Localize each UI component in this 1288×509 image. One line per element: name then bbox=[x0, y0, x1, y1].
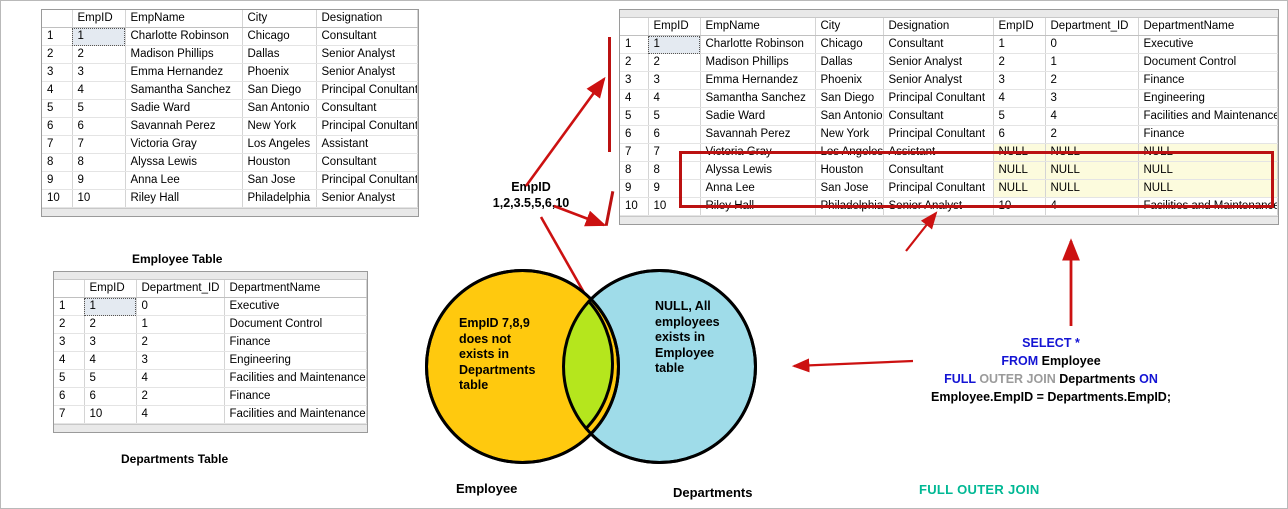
column-header-empid-left[interactable]: EmpID bbox=[648, 18, 700, 36]
table-row[interactable]: 2 2 Madison Phillips Dallas Senior Analy… bbox=[620, 54, 1278, 72]
cell-empid-right[interactable]: 2 bbox=[993, 54, 1045, 72]
row-number: 7 bbox=[620, 144, 648, 162]
column-header-department-name[interactable]: DepartmentName bbox=[224, 280, 367, 298]
sql-keyword-full: FULL bbox=[944, 372, 976, 386]
horizontal-scrollbar[interactable] bbox=[620, 216, 1278, 224]
cell-city[interactable]: Phoenix bbox=[242, 64, 316, 82]
cell-designation[interactable]: Consultant bbox=[316, 28, 418, 46]
cell-designation[interactable]: Consultant bbox=[883, 36, 993, 54]
column-header-empid[interactable]: EmpID bbox=[72, 10, 125, 28]
cell-empid[interactable]: 1 bbox=[84, 298, 136, 316]
cell-city[interactable]: Chicago bbox=[815, 36, 883, 54]
row-number: 3 bbox=[54, 334, 84, 352]
column-header[interactable] bbox=[620, 18, 648, 36]
cell-empname[interactable]: Alyssa Lewis bbox=[125, 154, 242, 172]
cell-empid[interactable]: 3 bbox=[72, 64, 125, 82]
cell-designation[interactable]: Principal Conultant bbox=[883, 180, 993, 198]
cell-city[interactable]: Houston bbox=[815, 162, 883, 180]
empid-annotation-line2: 1,2,3.5,5,6,10 bbox=[441, 195, 621, 211]
cell-city[interactable]: Dallas bbox=[815, 54, 883, 72]
row-number: 6 bbox=[54, 388, 84, 406]
cell-department-id-null[interactable]: NULL bbox=[1045, 180, 1138, 198]
table-row[interactable]: 3 3 Emma Hernandez Phoenix Senior Analys… bbox=[42, 64, 418, 82]
cell-empname[interactable]: Emma Hernandez bbox=[700, 72, 815, 90]
cell-designation[interactable]: Consultant bbox=[883, 108, 993, 126]
cell-designation[interactable]: Senior Analyst bbox=[316, 190, 418, 208]
departments-table: EmpID Department_ID DepartmentName 1 1 0… bbox=[54, 280, 367, 424]
cell-designation[interactable]: Senior Analyst bbox=[316, 64, 418, 82]
horizontal-scrollbar[interactable] bbox=[54, 424, 367, 432]
venn-label-right-line: table bbox=[655, 361, 760, 377]
cell-empid-left[interactable]: 9 bbox=[648, 180, 700, 198]
cell-department-name[interactable]: Finance bbox=[224, 388, 367, 406]
cell-designation[interactable]: Consultant bbox=[316, 154, 418, 172]
cell-empid-left[interactable]: 4 bbox=[648, 90, 700, 108]
cell-designation[interactable]: Consultant bbox=[316, 100, 418, 118]
grid-top-pad bbox=[54, 272, 367, 280]
table-header-row: EmpID EmpName City Designation EmpID Dep… bbox=[620, 18, 1278, 36]
cell-designation[interactable]: Principal Conultant bbox=[883, 90, 993, 108]
row-number: 10 bbox=[42, 190, 72, 208]
cell-department-id[interactable]: 3 bbox=[136, 352, 224, 370]
row-number: 6 bbox=[620, 126, 648, 144]
cell-empid[interactable]: 8 bbox=[72, 154, 125, 172]
cell-department-name[interactable]: Facilities and Maintenance bbox=[1138, 198, 1278, 216]
employee-table-caption: Employee Table bbox=[132, 252, 222, 266]
cell-empname[interactable]: Anna Lee bbox=[125, 172, 242, 190]
cell-empid[interactable]: 5 bbox=[72, 100, 125, 118]
cell-empid[interactable]: 2 bbox=[84, 316, 136, 334]
cell-department-name[interactable]: Document Control bbox=[224, 316, 367, 334]
row-number: 10 bbox=[620, 198, 648, 216]
cell-empid-right-null[interactable]: NULL bbox=[993, 180, 1045, 198]
column-header[interactable] bbox=[42, 10, 72, 28]
empid-annotation-line1: EmpID bbox=[441, 179, 621, 195]
bracket-bar-upper bbox=[608, 37, 611, 152]
cell-designation[interactable]: Principal Conultant bbox=[316, 172, 418, 190]
cell-empname[interactable]: Anna Lee bbox=[700, 180, 815, 198]
cell-empid[interactable]: 5 bbox=[84, 370, 136, 388]
cell-empname[interactable]: Sadie Ward bbox=[125, 100, 242, 118]
table-row-null[interactable]: 8 8 Alyssa Lewis Houston Consultant NULL… bbox=[620, 162, 1278, 180]
cell-department-name[interactable]: Engineering bbox=[1138, 90, 1278, 108]
table-row[interactable]: 6 6 Savannah Perez New York Principal Co… bbox=[620, 126, 1278, 144]
venn-title-departments: Departments bbox=[673, 485, 752, 500]
table-row[interactable]: 4 4 3 Engineering bbox=[54, 352, 367, 370]
cell-department-id[interactable]: 2 bbox=[1045, 126, 1138, 144]
column-header-department-id[interactable]: Department_ID bbox=[136, 280, 224, 298]
table-row[interactable]: 4 4 Samantha Sanchez San Diego Principal… bbox=[42, 82, 418, 100]
cell-department-id-null[interactable]: NULL bbox=[1045, 144, 1138, 162]
cell-empid-right[interactable]: 3 bbox=[993, 72, 1045, 90]
cell-empid-right[interactable]: 4 bbox=[993, 90, 1045, 108]
row-number: 4 bbox=[54, 352, 84, 370]
cell-empid[interactable]: 6 bbox=[84, 388, 136, 406]
sql-join-condition: Employee.EmpID = Departments.EmpID; bbox=[931, 390, 1171, 404]
sql-line-2: FROM Employee bbox=[856, 352, 1246, 370]
cell-department-name[interactable]: Executive bbox=[224, 298, 367, 316]
cell-city[interactable]: Dallas bbox=[242, 46, 316, 64]
cell-empname[interactable]: Savannah Perez bbox=[125, 118, 242, 136]
column-header-empname[interactable]: EmpName bbox=[700, 18, 815, 36]
column-header-empid[interactable]: EmpID bbox=[84, 280, 136, 298]
cell-department-id[interactable]: 4 bbox=[136, 370, 224, 388]
cell-empid[interactable]: 10 bbox=[84, 406, 136, 424]
table-row[interactable]: 10 10 Riley Hall Philadelphia Senior Ana… bbox=[42, 190, 418, 208]
table-row-null[interactable]: 7 7 Victoria Gray Los Angeles Assistant … bbox=[620, 144, 1278, 162]
table-row[interactable]: 10 10 Riley Hall Philadelphia Senior Ana… bbox=[620, 198, 1278, 216]
table-header-row: EmpID Department_ID DepartmentName bbox=[54, 280, 367, 298]
cell-department-name[interactable]: Engineering bbox=[224, 352, 367, 370]
grid-top-pad bbox=[620, 10, 1278, 18]
cell-empid[interactable]: 6 bbox=[72, 118, 125, 136]
cell-department-name[interactable]: Finance bbox=[1138, 72, 1278, 90]
column-header-empid-right[interactable]: EmpID bbox=[993, 18, 1045, 36]
cell-empname[interactable]: Victoria Gray bbox=[125, 136, 242, 154]
cell-empname[interactable]: Madison Phillips bbox=[700, 54, 815, 72]
cell-department-name[interactable]: Executive bbox=[1138, 36, 1278, 54]
column-header-city[interactable]: City bbox=[815, 18, 883, 36]
cell-empid[interactable]: 2 bbox=[72, 46, 125, 64]
table-row[interactable]: 2 2 Madison Phillips Dallas Senior Analy… bbox=[42, 46, 418, 64]
row-number: 1 bbox=[620, 36, 648, 54]
cell-city[interactable]: San Jose bbox=[242, 172, 316, 190]
sql-query-block: SELECT * FROM Employee FULL OUTER JOIN D… bbox=[856, 334, 1246, 406]
table-row[interactable]: 6 6 2 Finance bbox=[54, 388, 367, 406]
sql-line-1: SELECT * bbox=[856, 334, 1246, 352]
column-header-department-id[interactable]: Department_ID bbox=[1045, 18, 1138, 36]
departments-result-grid[interactable]: EmpID Department_ID DepartmentName 1 1 0… bbox=[53, 271, 368, 433]
cell-department-id[interactable]: 3 bbox=[1045, 90, 1138, 108]
table-row[interactable]: 5 5 Sadie Ward San Antonio Consultant 5 … bbox=[620, 108, 1278, 126]
row-number: 3 bbox=[620, 72, 648, 90]
cell-city[interactable]: Philadelphia bbox=[815, 198, 883, 216]
venn-label-right-line: employees bbox=[655, 315, 760, 331]
table-row[interactable]: 6 6 Savannah Perez New York Principal Co… bbox=[42, 118, 418, 136]
cell-empid[interactable]: 1 bbox=[72, 28, 125, 46]
venn-diagram: EmpID 7,8,9 does not exists in Departmen… bbox=[421, 259, 796, 474]
cell-city[interactable]: Los Angeles bbox=[815, 144, 883, 162]
cell-department-name[interactable]: Facilities and Maintenance bbox=[224, 370, 367, 388]
table-row[interactable]: 2 2 1 Document Control bbox=[54, 316, 367, 334]
cell-city[interactable]: New York bbox=[815, 126, 883, 144]
table-row[interactable]: 1 1 Charlotte Robinson Chicago Consultan… bbox=[620, 36, 1278, 54]
cell-department-name[interactable]: Facilities and Maintenance bbox=[224, 406, 367, 424]
cell-empname[interactable]: Riley Hall bbox=[700, 198, 815, 216]
row-number: 8 bbox=[42, 154, 72, 172]
row-number: 7 bbox=[54, 406, 84, 424]
cell-department-name-null[interactable]: NULL bbox=[1138, 144, 1278, 162]
cell-department-id[interactable]: 2 bbox=[1045, 72, 1138, 90]
cell-empid-left[interactable]: 8 bbox=[648, 162, 700, 180]
venn-label-left-line: does not bbox=[459, 332, 589, 348]
row-number: 3 bbox=[42, 64, 72, 82]
cell-empname[interactable]: Emma Hernandez bbox=[125, 64, 242, 82]
cell-department-name-null[interactable]: NULL bbox=[1138, 162, 1278, 180]
cell-empname[interactable]: Alyssa Lewis bbox=[700, 162, 815, 180]
venn-label-left-line: Departments bbox=[459, 363, 589, 379]
cell-designation[interactable]: Principal Conultant bbox=[316, 82, 418, 100]
cell-empid[interactable]: 10 bbox=[72, 190, 125, 208]
cell-department-id[interactable]: 4 bbox=[1045, 198, 1138, 216]
column-header[interactable] bbox=[54, 280, 84, 298]
venn-label-left-line: exists in bbox=[459, 347, 589, 363]
cell-city[interactable]: San Diego bbox=[242, 82, 316, 100]
cell-empid-left[interactable]: 2 bbox=[648, 54, 700, 72]
cell-department-id[interactable]: 1 bbox=[1045, 54, 1138, 72]
row-number: 4 bbox=[42, 82, 72, 100]
table-row[interactable]: 1 1 Charlotte Robinson Chicago Consultan… bbox=[42, 28, 418, 46]
row-number: 4 bbox=[620, 90, 648, 108]
cell-city[interactable]: Phoenix bbox=[815, 72, 883, 90]
sql-table-employee: Employee bbox=[1042, 354, 1101, 368]
empid-annotation: EmpID 1,2,3.5,5,6,10 bbox=[441, 179, 621, 211]
row-number: 1 bbox=[54, 298, 84, 316]
sql-keyword-select: SELECT bbox=[1022, 336, 1071, 350]
join-result-table: EmpID EmpName City Designation EmpID Dep… bbox=[620, 18, 1278, 216]
venn-label-left: EmpID 7,8,9 does not exists in Departmen… bbox=[459, 316, 589, 394]
row-number: 2 bbox=[42, 46, 72, 64]
cell-designation[interactable]: Principal Conultant bbox=[316, 118, 418, 136]
table-row[interactable]: 8 8 Alyssa Lewis Houston Consultant bbox=[42, 154, 418, 172]
cell-designation[interactable]: Principal Conultant bbox=[883, 126, 993, 144]
cell-department-id[interactable]: 2 bbox=[136, 334, 224, 352]
sql-keyword-from: FROM bbox=[1001, 354, 1038, 368]
table-row[interactable]: 1 1 0 Executive bbox=[54, 298, 367, 316]
table-row-null[interactable]: 9 9 Anna Lee San Jose Principal Conultan… bbox=[620, 180, 1278, 198]
cell-empid[interactable]: 4 bbox=[72, 82, 125, 100]
column-header-designation[interactable]: Designation bbox=[316, 10, 418, 28]
cell-department-name[interactable]: Finance bbox=[224, 334, 367, 352]
cell-empid-right[interactable]: 6 bbox=[993, 126, 1045, 144]
column-header-city[interactable]: City bbox=[242, 10, 316, 28]
venn-label-right-line: Employee bbox=[655, 346, 760, 362]
venn-label-left-line: table bbox=[459, 378, 589, 394]
cell-city[interactable]: San Antonio bbox=[242, 100, 316, 118]
cell-empid[interactable]: 4 bbox=[84, 352, 136, 370]
cell-designation[interactable]: Assistant bbox=[883, 144, 993, 162]
cell-department-id[interactable]: 2 bbox=[136, 388, 224, 406]
cell-department-id-null[interactable]: NULL bbox=[1045, 162, 1138, 180]
diagram-canvas: EmpID EmpName City Designation 1 1 Charl… bbox=[0, 0, 1288, 509]
cell-empname[interactable]: Charlotte Robinson bbox=[125, 28, 242, 46]
table-row[interactable]: 5 5 4 Facilities and Maintenance bbox=[54, 370, 367, 388]
sql-keyword-outer-join: OUTER JOIN bbox=[979, 372, 1055, 386]
sql-star: * bbox=[1075, 336, 1080, 350]
cell-empname[interactable]: Savannah Perez bbox=[700, 126, 815, 144]
cell-empname[interactable]: Samantha Sanchez bbox=[125, 82, 242, 100]
cell-empid-left[interactable]: 1 bbox=[648, 36, 700, 54]
cell-department-name[interactable]: Facilities and Maintenance bbox=[1138, 108, 1278, 126]
cell-empname[interactable]: Madison Phillips bbox=[125, 46, 242, 64]
cell-department-id[interactable]: 4 bbox=[136, 406, 224, 424]
row-number: 9 bbox=[42, 172, 72, 190]
cell-department-name-null[interactable]: NULL bbox=[1138, 180, 1278, 198]
cell-empid-left[interactable]: 10 bbox=[648, 198, 700, 216]
cell-empname[interactable]: Samantha Sanchez bbox=[700, 90, 815, 108]
row-number: 5 bbox=[54, 370, 84, 388]
row-number: 1 bbox=[42, 28, 72, 46]
column-header-department-name[interactable]: DepartmentName bbox=[1138, 18, 1278, 36]
venn-title-employee: Employee bbox=[456, 481, 517, 496]
cell-empid[interactable]: 7 bbox=[72, 136, 125, 154]
cell-department-id[interactable]: 0 bbox=[136, 298, 224, 316]
horizontal-scrollbar[interactable] bbox=[42, 208, 418, 216]
employee-result-grid[interactable]: EmpID EmpName City Designation 1 1 Charl… bbox=[41, 9, 419, 217]
cell-designation[interactable]: Senior Analyst bbox=[316, 46, 418, 64]
cell-empname[interactable]: Charlotte Robinson bbox=[700, 36, 815, 54]
table-header-row: EmpID EmpName City Designation bbox=[42, 10, 418, 28]
cell-city[interactable]: Philadelphia bbox=[242, 190, 316, 208]
cell-department-id[interactable]: 1 bbox=[136, 316, 224, 334]
cell-city[interactable]: Los Angeles bbox=[242, 136, 316, 154]
cell-department-name[interactable]: Document Control bbox=[1138, 54, 1278, 72]
row-number: 9 bbox=[620, 180, 648, 198]
venn-label-right-line: exists in bbox=[655, 330, 760, 346]
cell-designation[interactable]: Senior Analyst bbox=[883, 198, 993, 216]
row-number: 6 bbox=[42, 118, 72, 136]
cell-empid-left[interactable]: 5 bbox=[648, 108, 700, 126]
cell-empid-left[interactable]: 7 bbox=[648, 144, 700, 162]
join-type-label: FULL OUTER JOIN bbox=[919, 482, 1040, 497]
table-row[interactable]: 3 3 2 Finance bbox=[54, 334, 367, 352]
cell-designation[interactable]: Senior Analyst bbox=[883, 72, 993, 90]
cell-city[interactable]: Chicago bbox=[242, 28, 316, 46]
sql-line-3: FULL OUTER JOIN Departments ON bbox=[856, 370, 1246, 388]
cell-designation[interactable]: Consultant bbox=[883, 162, 993, 180]
cell-city[interactable]: Houston bbox=[242, 154, 316, 172]
sql-keyword-on: ON bbox=[1139, 372, 1158, 386]
row-number: 8 bbox=[620, 162, 648, 180]
cell-city[interactable]: San Jose bbox=[815, 180, 883, 198]
cell-empname[interactable]: Riley Hall bbox=[125, 190, 242, 208]
cell-empname[interactable]: Sadie Ward bbox=[700, 108, 815, 126]
cell-department-id[interactable]: 4 bbox=[1045, 108, 1138, 126]
departments-table-caption: Departments Table bbox=[121, 452, 228, 466]
table-row[interactable]: 5 5 Sadie Ward San Antonio Consultant bbox=[42, 100, 418, 118]
cell-empid-right[interactable]: 10 bbox=[993, 198, 1045, 216]
cell-empname[interactable]: Victoria Gray bbox=[700, 144, 815, 162]
cell-empid-right[interactable]: 1 bbox=[993, 36, 1045, 54]
employee-table: EmpID EmpName City Designation 1 1 Charl… bbox=[42, 10, 418, 208]
row-number: 2 bbox=[620, 54, 648, 72]
cell-empid-right-null[interactable]: NULL bbox=[993, 144, 1045, 162]
table-row[interactable]: 3 3 Emma Hernandez Phoenix Senior Analys… bbox=[620, 72, 1278, 90]
cell-empid[interactable]: 9 bbox=[72, 172, 125, 190]
column-header-designation[interactable]: Designation bbox=[883, 18, 993, 36]
table-row[interactable]: 7 7 Victoria Gray Los Angeles Assistant bbox=[42, 136, 418, 154]
row-number: 5 bbox=[620, 108, 648, 126]
cell-designation[interactable]: Assistant bbox=[316, 136, 418, 154]
venn-label-left-line: EmpID 7,8,9 bbox=[459, 316, 589, 332]
cell-department-id[interactable]: 0 bbox=[1045, 36, 1138, 54]
column-header-empname[interactable]: EmpName bbox=[125, 10, 242, 28]
venn-label-right-line: NULL, All bbox=[655, 299, 760, 315]
row-number: 5 bbox=[42, 100, 72, 118]
row-number: 2 bbox=[54, 316, 84, 334]
cell-empid-right-null[interactable]: NULL bbox=[993, 162, 1045, 180]
cell-department-name[interactable]: Finance bbox=[1138, 126, 1278, 144]
arrow-empid-to-matched-rows bbox=[526, 79, 604, 186]
sql-line-4: Employee.EmpID = Departments.EmpID; bbox=[856, 388, 1246, 406]
cell-empid-right[interactable]: 5 bbox=[993, 108, 1045, 126]
row-number: 7 bbox=[42, 136, 72, 154]
sql-table-departments: Departments bbox=[1059, 372, 1135, 386]
venn-label-right: NULL, All employees exists in Employee t… bbox=[655, 299, 760, 377]
cell-city[interactable]: New York bbox=[242, 118, 316, 136]
cell-designation[interactable]: Senior Analyst bbox=[883, 54, 993, 72]
cell-city[interactable]: San Antonio bbox=[815, 108, 883, 126]
table-row[interactable]: 7 10 4 Facilities and Maintenance bbox=[54, 406, 367, 424]
table-row[interactable]: 9 9 Anna Lee San Jose Principal Conultan… bbox=[42, 172, 418, 190]
cell-empid-left[interactable]: 3 bbox=[648, 72, 700, 90]
cell-city[interactable]: San Diego bbox=[815, 90, 883, 108]
cell-empid-left[interactable]: 6 bbox=[648, 126, 700, 144]
cell-empid[interactable]: 3 bbox=[84, 334, 136, 352]
result-set-grid[interactable]: EmpID EmpName City Designation EmpID Dep… bbox=[619, 9, 1279, 225]
table-row[interactable]: 4 4 Samantha Sanchez San Diego Principal… bbox=[620, 90, 1278, 108]
